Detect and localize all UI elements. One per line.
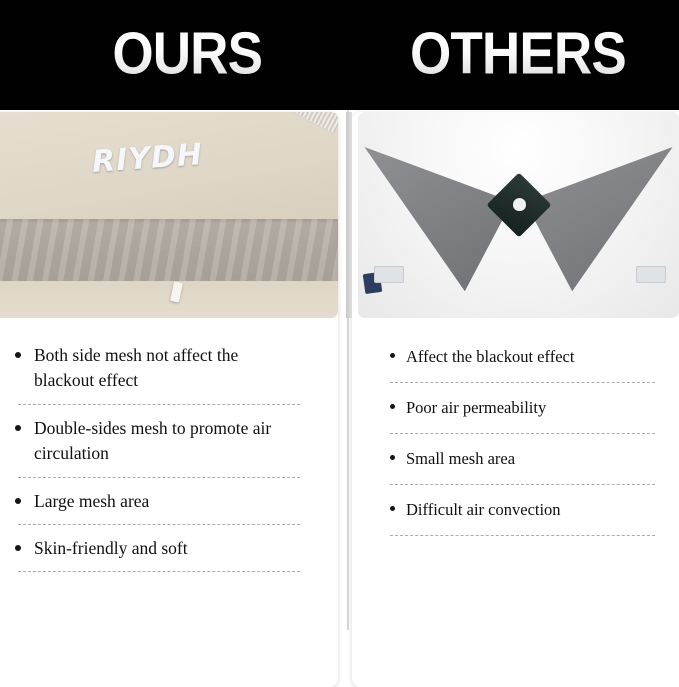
corner-pocket-left xyxy=(374,266,404,283)
ours-feature-list: Both side mesh not affect the blackout e… xyxy=(0,332,338,572)
bullet-dot-icon xyxy=(15,498,21,504)
bullet-dot-icon xyxy=(390,455,395,460)
list-item: Difficult air convection xyxy=(390,485,669,535)
bullet-dot-icon xyxy=(15,352,21,358)
feature-divider xyxy=(390,433,655,434)
feature-text: Double-sides mesh to promote air circula… xyxy=(34,416,286,467)
list-item: Affect the blackout effect xyxy=(390,332,669,382)
side-mesh-band xyxy=(0,219,338,285)
feature-text: Affect the blackout effect xyxy=(406,345,574,369)
list-item: Double-sides mesh to promote air circula… xyxy=(6,405,316,477)
header-title-others: OTHERS xyxy=(410,24,626,83)
header-title-ours: OURS xyxy=(112,24,262,83)
column-others: Affect the blackout effect Poor air perm… xyxy=(352,110,679,674)
feature-text: Difficult air convection xyxy=(406,498,561,522)
ours-product-photo: RIYDH xyxy=(0,112,338,318)
feature-divider xyxy=(18,571,300,572)
feature-text: Small mesh area xyxy=(406,447,515,471)
feature-divider xyxy=(18,404,300,405)
column-ours: RIYDH Both side mesh not affect the blac… xyxy=(0,110,338,674)
feature-divider xyxy=(18,524,300,525)
center-hook-clip-icon xyxy=(513,198,526,211)
feature-text: Large mesh area xyxy=(34,489,149,514)
white-tent-illustration xyxy=(358,112,679,318)
tent-lower-fabric xyxy=(0,281,338,318)
feature-divider xyxy=(390,382,655,383)
list-item: Skin-friendly and soft xyxy=(6,525,316,571)
feature-divider xyxy=(390,535,655,536)
comparison-body: RIYDH Both side mesh not affect the blac… xyxy=(0,110,679,674)
feature-text: Both side mesh not affect the blackout e… xyxy=(34,343,286,394)
bullet-dot-icon xyxy=(15,545,21,551)
comparison-header-bar: OURS OTHERS xyxy=(0,0,679,110)
feature-divider xyxy=(390,484,655,485)
feature-text: Poor air permeability xyxy=(406,396,546,420)
bullet-dot-icon xyxy=(390,404,395,409)
beige-tent-illustration: RIYDH xyxy=(0,112,338,318)
bullet-dot-icon xyxy=(390,353,395,358)
list-item: Poor air permeability xyxy=(390,383,669,433)
list-item: Small mesh area xyxy=(390,434,669,484)
brand-logo-text: RIYDH xyxy=(91,137,204,180)
others-product-photo xyxy=(358,112,679,318)
feature-text: Skin-friendly and soft xyxy=(34,536,188,561)
bullet-dot-icon xyxy=(15,425,21,431)
corner-pocket-right xyxy=(636,266,666,283)
list-item: Large mesh area xyxy=(6,478,316,524)
feature-divider xyxy=(18,477,300,478)
bullet-dot-icon xyxy=(390,506,395,511)
others-feature-list: Affect the blackout effect Poor air perm… xyxy=(352,332,679,536)
list-item: Both side mesh not affect the blackout e… xyxy=(6,332,316,404)
photo-gutter-strip xyxy=(346,112,352,318)
